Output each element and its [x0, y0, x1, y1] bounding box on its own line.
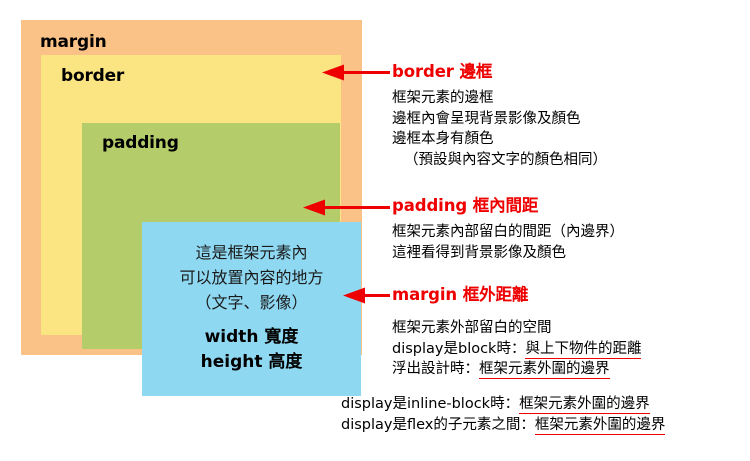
padding-layer: padding 這是框架元素內 可以放置內容的地方 （文字、影像） width … — [82, 123, 340, 349]
content-layer: 這是框架元素內 可以放置內容的地方 （文字、影像） width 寬度 heigh… — [142, 222, 361, 396]
bottom-note-emphasis: 框架元素外圍的邊界 — [519, 396, 650, 414]
arrow-to-border-icon — [320, 64, 392, 81]
margin-layer: margin border padding 這是框架元素內 可以放置內容的地方 … — [21, 20, 362, 355]
callout-line: 框架元素外部留白的空間 — [392, 318, 641, 339]
callout-body-margin: 框架元素外部留白的空間 display是block時：與上下物件的距離 浮出設計… — [392, 318, 641, 380]
margin-detail-line: 浮出設計時：框架元素外圍的邊界 — [392, 359, 641, 380]
border-layer: border padding 這是框架元素內 可以放置內容的地方 （文字、影像）… — [41, 55, 341, 335]
content-height-label: height 高度 — [201, 350, 303, 375]
callout-title-border: border 邊框 — [392, 64, 492, 81]
margin-layer-label: margin — [40, 34, 106, 51]
content-line: （文字、影像） — [179, 290, 323, 315]
callout-body-padding: 框架元素內部留白的間距（內邊界） 這裡看得到背景影像及顏色 — [392, 222, 624, 263]
border-layer-label: border — [61, 68, 124, 85]
margin-detail-emphasis: 框架元素外圍的邊界 — [479, 361, 610, 379]
content-line: 這是框架元素內 — [179, 240, 323, 265]
arrow-to-margin-icon — [341, 287, 392, 304]
callout-line: 邊框本身有顏色 — [392, 129, 607, 150]
callout-line: （預設與內容文字的顏色相同） — [392, 150, 607, 171]
content-line: 可以放置內容的地方 — [179, 265, 323, 290]
callout-line: 框架元素內部留白的間距（內邊界） — [392, 222, 624, 243]
content-width-label: width 寬度 — [205, 325, 299, 350]
bottom-note-line: display是flex的子元素之間：框架元素外圍的邊界 — [341, 415, 665, 436]
margin-detail-emphasis: 與上下物件的距離 — [525, 341, 641, 359]
bottom-note-emphasis: 框架元素外圍的邊界 — [535, 417, 666, 435]
bottom-note-prefix: display是flex的子元素之間： — [341, 417, 535, 433]
bottom-note-prefix: display是inline-block時： — [341, 396, 519, 412]
bottom-notes: display是inline-block時：框架元素外圍的邊界 display是… — [341, 394, 665, 436]
bottom-note-line: display是inline-block時：框架元素外圍的邊界 — [341, 394, 665, 415]
callout-line: 這裡看得到背景影像及顏色 — [392, 243, 624, 264]
callout-title-padding: padding 框內間距 — [392, 198, 538, 215]
margin-detail-line: display是block時：與上下物件的距離 — [392, 339, 641, 360]
arrow-to-padding-icon — [301, 199, 392, 216]
callout-line: 框架元素的邊框 — [392, 88, 607, 109]
callout-title-margin: margin 框外距離 — [392, 287, 528, 304]
callout-line: 邊框內會呈現背景影像及顏色 — [392, 109, 607, 130]
callout-body-border: 框架元素的邊框 邊框內會呈現背景影像及顏色 邊框本身有顏色 （預設與內容文字的顏… — [392, 88, 607, 170]
content-description-group: 這是框架元素內 可以放置內容的地方 （文字、影像） — [179, 240, 323, 315]
box-model-diagram: margin border padding 這是框架元素內 可以放置內容的地方 … — [21, 20, 362, 355]
margin-detail-prefix: display是block時： — [392, 341, 525, 357]
padding-layer-label: padding — [102, 135, 179, 152]
margin-detail-prefix: 浮出設計時： — [392, 361, 479, 377]
